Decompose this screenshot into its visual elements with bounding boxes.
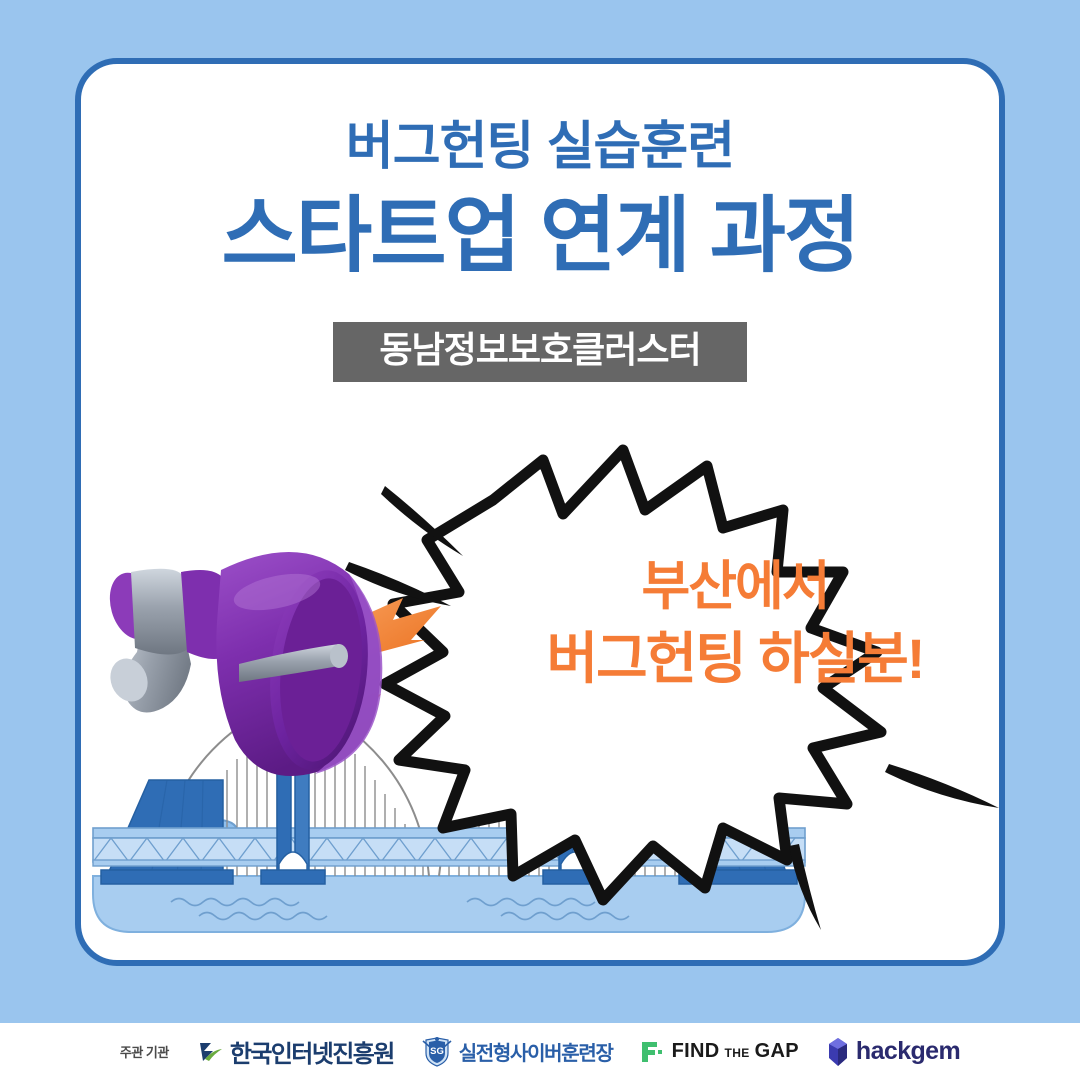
logo-hackgem: hackgem [827, 1037, 960, 1067]
svg-text:SG: SG [430, 1046, 444, 1057]
bridge-tower-right [543, 704, 607, 884]
sg-shield-icon: SG [422, 1037, 452, 1067]
speech-bubble-line-2: 버그헌팅 하실분! [517, 622, 953, 696]
poster-badge-wrap: 동남정보보호클러스터 [81, 322, 999, 382]
megaphone-icon [102, 552, 382, 776]
sponsor-label: 주관 기관 [120, 1042, 169, 1061]
sponsor-bar: 주관 기관 한국인터넷진흥원 SG 실전형사이버훈련장 [0, 1023, 1080, 1080]
poster-badge: 동남정보보호클러스터 [333, 322, 746, 382]
lightning-bolts [295, 598, 441, 754]
poster-root: 버그헌팅 실습훈련 스타트업 연계 과정 동남정보보호클러스터 부산에서 버그헌… [0, 0, 1080, 1080]
water-ripples [171, 899, 629, 920]
logo-sg-label: 실전형사이버훈련장 [459, 1037, 613, 1066]
bridge-tower-left [261, 682, 325, 884]
poster-card: 버그헌팅 실습훈련 스타트업 연계 과정 동남정보보호클러스터 부산에서 버그헌… [75, 58, 1005, 966]
logo-ftg-the: THE [724, 1046, 749, 1060]
speech-bubble-text: 부산에서 버그헌팅 하실분! [517, 552, 953, 696]
ftg-mark-icon [641, 1040, 665, 1064]
logo-kisa: 한국인터넷진흥원 [197, 1034, 394, 1069]
kisa-mark-icon [197, 1039, 223, 1065]
logo-kisa-label: 한국인터넷진흥원 [230, 1034, 394, 1069]
logo-hackgem-label: hackgem [856, 1037, 960, 1066]
gem-icon [827, 1037, 849, 1067]
logo-ftg-gap: GAP [755, 1040, 799, 1063]
poster-headline: 스타트업 연계 과정 [81, 192, 999, 279]
speech-bubble-line-1: 부산에서 [517, 552, 953, 622]
logo-find-the-gap: FIND THE GAP [641, 1040, 799, 1064]
logo-ftg-find: FIND [672, 1040, 720, 1063]
logo-sg: SG 실전형사이버훈련장 [422, 1037, 613, 1067]
logo-ftg-label: FIND THE GAP [672, 1040, 799, 1063]
poster-kicker: 버그헌팅 실습훈련 [81, 121, 999, 173]
